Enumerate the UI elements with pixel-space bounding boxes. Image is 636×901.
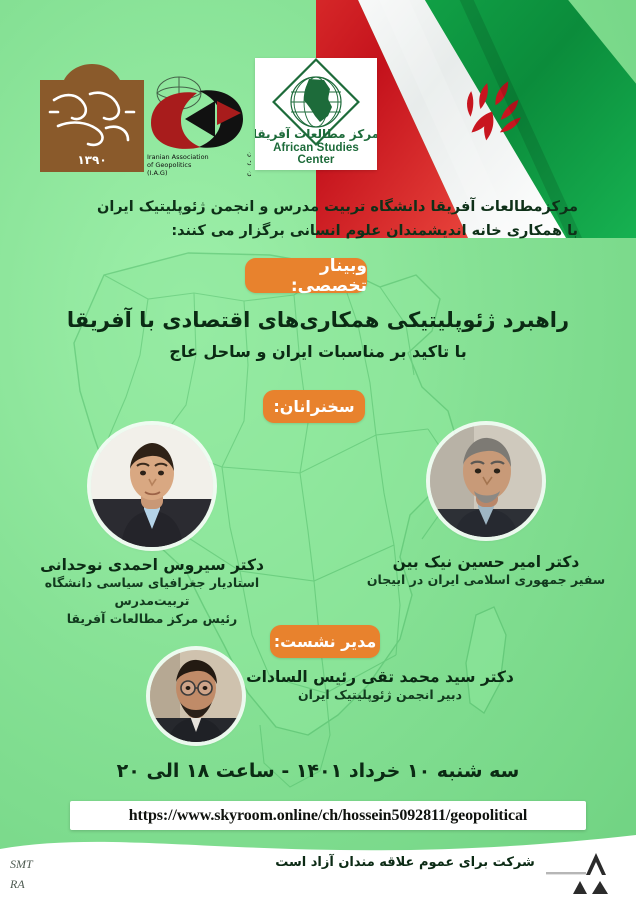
moderator-text: دکتر سید محمد تقی رئیس السادات دبیر انجم… xyxy=(240,668,520,704)
speaker-role-line-1: استادیار جغرافیای سیاسی دانشگاه تربیت‌مد… xyxy=(18,574,286,610)
svg-text:Iranian Association: Iranian Association xyxy=(147,153,209,161)
speaker-name: دکتر امیر حسین نیک بین xyxy=(352,553,620,571)
logo-row: ۱۳۹۰ Iranian Association of Geopolitics xyxy=(0,55,400,175)
speaker-role-line-1: سفیر جمهوری اسلامی ایران در ابیجان xyxy=(352,571,620,589)
asc-english-label: African Studies Center xyxy=(255,142,377,166)
moderator-role: دبیر انجمن ژئوپلیتیک ایران xyxy=(240,686,520,704)
svg-text:(I.A.G): (I.A.G) xyxy=(147,169,168,177)
event-url-bar[interactable]: https://www.skyroom.online/ch/hossein509… xyxy=(70,801,586,830)
badge-speakers: سخنرانان: xyxy=(263,390,365,423)
svg-text:ژئوپلیتیک: ژئوپلیتیک xyxy=(247,159,251,167)
asc-logo: مرکز مطالعات آفریقا African Studies Cent… xyxy=(255,58,377,170)
host-line-2: با همکاری خانه اندیشمندان علوم انسانی بر… xyxy=(40,220,596,244)
svg-text:۱۳۹۰: ۱۳۹۰ xyxy=(77,153,106,167)
poster-root: ۱۳۹۰ Iranian Association of Geopolitics xyxy=(0,0,636,901)
speaker-card-1: دکتر سیروس احمدی نوحدانی استادیار جغرافی… xyxy=(18,425,286,628)
ihss-logo: ۱۳۹۰ xyxy=(32,60,152,178)
svg-text:مرکز مطالعات آفریقا: مرکز مطالعات آفریقا xyxy=(255,126,377,141)
watermark-line-2: RA xyxy=(10,875,80,895)
host-organizations: مرکزمطالعات آفریقا دانشگاه تربیت مدرس و … xyxy=(40,196,596,244)
footer-logo xyxy=(540,849,628,895)
avatar xyxy=(150,650,242,742)
event-url[interactable]: https://www.skyroom.online/ch/hossein509… xyxy=(129,807,528,825)
speaker-role-line-2: رئیس مرکز مطالعات آفریقا xyxy=(18,610,286,628)
watermark: SMT RA xyxy=(10,855,80,895)
speaker-name: دکتر سیروس احمدی نوحدانی xyxy=(18,556,286,574)
moderator-card: دکتر سید محمد تقی رئیس السادات دبیر انجم… xyxy=(120,648,520,748)
badge-webinar: وبینار تخصصی: xyxy=(245,258,367,293)
host-line-1: مرکزمطالعات آفریقا دانشگاه تربیت مدرس و … xyxy=(40,196,596,220)
watermark-line-1: SMT xyxy=(10,855,80,875)
avatar xyxy=(91,425,213,547)
svg-text:of Geopolitics: of Geopolitics xyxy=(147,161,192,169)
page-title: راهبرد ژئوپلیتیکی همکاری‌های اقتصادی با … xyxy=(18,308,618,332)
iag-logo: Iranian Association of Geopolitics (I.A.… xyxy=(143,67,251,179)
footer-note: شرکت برای عموم علاقه مندان آزاد است xyxy=(240,855,570,870)
moderator-name: دکتر سید محمد تقی رئیس السادات xyxy=(240,668,520,686)
svg-text:ایران: ایران xyxy=(247,169,251,177)
page-subtitle: با تاکید بر مناسبات ایران و ساحل عاج xyxy=(18,342,618,361)
speaker-card-2: دکتر امیر حسین نیک بین سفیر جمهوری اسلام… xyxy=(352,425,620,589)
avatar xyxy=(430,425,542,537)
event-datetime: سه شنبه ۱۰ خرداد ۱۴۰۱ - ساعت ۱۸ الی ۲۰ xyxy=(18,760,618,782)
svg-text:انجمن: انجمن xyxy=(247,149,251,157)
